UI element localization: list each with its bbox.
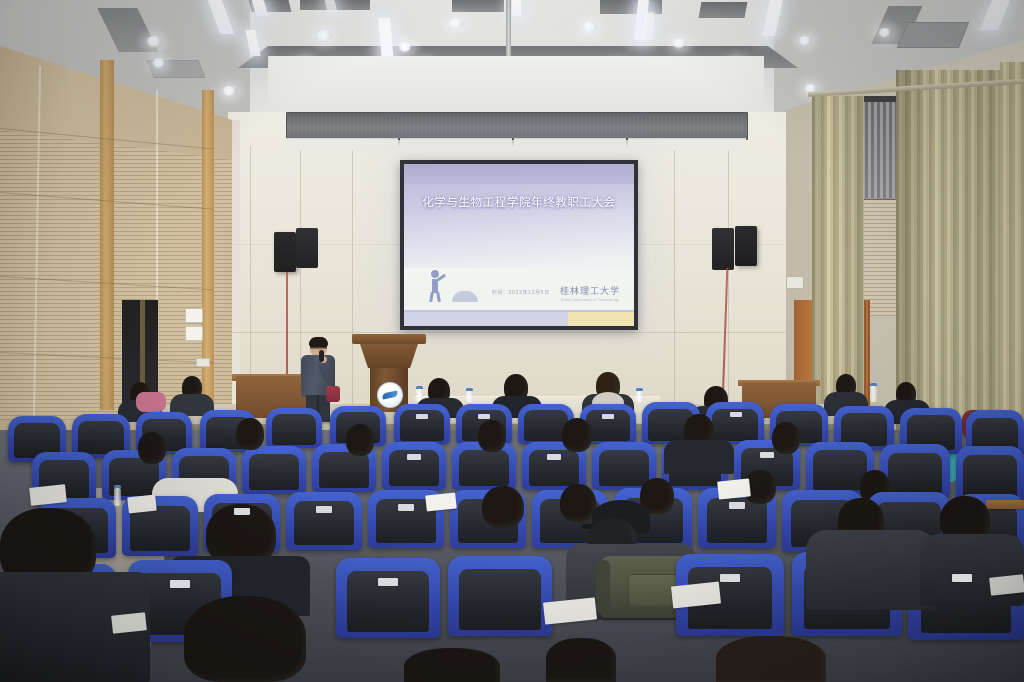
seat-number-c3	[547, 454, 561, 460]
loudspeaker-right-b	[735, 226, 757, 266]
seat-number-e3	[720, 574, 740, 582]
paper-8	[111, 612, 147, 633]
ceiling-spotlight-10	[222, 86, 237, 97]
seat-number-b2	[478, 414, 490, 419]
bottle-cap-aisle	[114, 485, 121, 488]
backpack-strap	[596, 560, 610, 614]
soffit-box-1	[286, 138, 398, 151]
audience-head-c4	[562, 418, 592, 452]
loudspeaker-left-b	[296, 228, 318, 268]
seat-number-e5	[952, 574, 972, 582]
chair-b1[interactable]	[394, 404, 450, 444]
audience-head-e3	[404, 648, 500, 682]
wall-outlet-plate[interactable]	[196, 358, 210, 367]
wall-seam-5	[250, 146, 251, 406]
ceiling-light-strip-8	[643, 12, 655, 40]
wall-seam-4	[728, 150, 729, 406]
slide-top-band	[404, 164, 634, 184]
audience-jacket-pink-far-left	[136, 392, 166, 412]
chair-c8[interactable]	[242, 446, 306, 494]
bottle-head-table-3	[636, 390, 643, 402]
seat-number-d1	[398, 504, 414, 511]
slide-blue-bar	[404, 312, 576, 326]
slide-yellow-bar	[568, 312, 634, 326]
writing-ledge-3	[986, 500, 1024, 509]
bottle-cap-2	[466, 388, 473, 391]
slide-figure-illustration	[424, 270, 446, 302]
emblem-mark	[382, 390, 399, 399]
seat-number-c1	[407, 454, 421, 460]
bottle-cap-3	[636, 388, 643, 391]
wall-seam-3	[674, 150, 675, 406]
microphone	[319, 350, 324, 362]
front-soffit	[268, 56, 764, 114]
loudspeaker-left-a	[274, 232, 296, 272]
bottle-cap-right-row	[870, 383, 877, 386]
bottle-aisle	[114, 488, 121, 506]
curtain-far-panel	[1000, 62, 1024, 434]
ceiling-spotlight-6	[672, 38, 687, 49]
chair-d6[interactable]	[286, 492, 362, 550]
slide-title: 化学与生物工程学院年终教职工大会	[404, 194, 634, 210]
loudspeaker-right-a	[712, 228, 734, 270]
figure-leg-right	[436, 292, 441, 302]
chair-b6[interactable]	[706, 402, 764, 444]
podium-emblem	[377, 382, 403, 408]
university-name-en: Guilin University of Technology	[560, 298, 620, 302]
projected-slide: 化学与生物工程学院年终教职工大会 时间：2022年12月5日 桂林理工大学 Gu…	[404, 164, 634, 326]
slide-hill-graphic	[452, 291, 478, 302]
ceiling-beam-5	[699, 2, 748, 18]
ceiling-light-strip-5	[512, 0, 521, 16]
podium-body	[360, 344, 418, 368]
chair-e2[interactable]	[448, 556, 552, 636]
wall-band-1	[232, 332, 798, 333]
ceiling-spotlight-7	[798, 36, 812, 46]
seat-number-e1	[378, 578, 398, 586]
screen-valance	[286, 112, 748, 140]
podium-top-surface	[352, 334, 426, 344]
audience-head-d2	[482, 486, 524, 528]
right-wall-control-panel[interactable]	[786, 276, 804, 289]
audience-head-e2	[184, 596, 306, 682]
slide-date: 时间：2022年12月5日	[492, 289, 549, 296]
seat-number-d7	[234, 508, 250, 515]
valance-texture	[289, 115, 745, 137]
loudspeaker-right-pair	[712, 226, 760, 272]
chair-c10[interactable]	[880, 444, 950, 498]
seat-number-d6	[316, 506, 332, 513]
ceiling-spotlight-5	[582, 22, 597, 33]
seat-number-b4	[602, 414, 614, 419]
soffit-box-3	[514, 138, 626, 151]
loudspeaker-left-pair	[274, 228, 320, 272]
bottle-cap-1	[416, 386, 423, 389]
paper-2	[127, 495, 157, 514]
paper-3	[717, 478, 751, 499]
curtain-left-panel	[812, 96, 864, 414]
curtain-left-shading	[812, 96, 864, 414]
ceiling-spotlight-3	[398, 42, 413, 53]
bottle-right-row	[870, 386, 877, 402]
audience-head-c1	[236, 418, 264, 450]
chair-b0[interactable]	[266, 408, 322, 448]
ceiling-beam-3	[452, 0, 504, 12]
figure-body	[432, 279, 438, 293]
seat-number-b1	[416, 414, 428, 419]
chair-c1[interactable]	[382, 442, 446, 490]
university-logo: 桂林理工大学 Guilin University of Technology	[560, 284, 620, 302]
ceiling-spotlight-2	[316, 30, 332, 42]
presenter-bag	[326, 386, 340, 402]
audience-head-e4	[716, 636, 826, 682]
auditorium-photo: 化学与生物工程学院年终教职工大会 时间：2022年12月5日 桂林理工大学 Gu…	[0, 0, 1024, 682]
ceiling-spotlight-4	[448, 18, 463, 29]
podium	[358, 334, 420, 410]
audience-head-c8	[138, 432, 166, 464]
bottle-head-table-2	[466, 390, 473, 402]
audience-head-c2	[346, 424, 374, 456]
figure-leg-left	[429, 292, 434, 302]
ceiling-vent-right	[897, 22, 970, 48]
wall-control-box-2[interactable]	[185, 326, 203, 341]
audience-head-e7	[546, 638, 616, 682]
audience-head-c3	[478, 420, 506, 452]
projection-screen: 化学与生物工程学院年终教职工大会 时间：2022年12月5日 桂林理工大学 Gu…	[400, 160, 638, 330]
seat-number-c6	[760, 452, 774, 458]
paper-6	[425, 492, 457, 511]
seat-number-b6	[730, 412, 742, 417]
paper-7	[989, 574, 1024, 595]
soffit-box-2	[400, 138, 512, 151]
seat-number-d5	[729, 502, 745, 509]
audience-shoulders-e6	[920, 534, 1024, 606]
ceiling-spotlight-8	[878, 28, 892, 38]
audience-shoulders-c5	[664, 440, 734, 474]
audience-head-c6	[772, 422, 800, 454]
audience-shoulders-e5	[806, 530, 936, 610]
presenter-hair	[309, 337, 328, 347]
wall-control-box-1[interactable]	[185, 308, 203, 323]
chair-e1[interactable]	[336, 558, 440, 638]
paper-1	[29, 484, 67, 506]
university-name-cn: 桂林理工大学	[560, 284, 620, 297]
wall-seam-2	[352, 150, 353, 406]
ceiling-spotlight-1	[146, 36, 162, 48]
seat-number-e6	[170, 580, 190, 588]
ceiling-spotlight-9	[152, 58, 166, 69]
